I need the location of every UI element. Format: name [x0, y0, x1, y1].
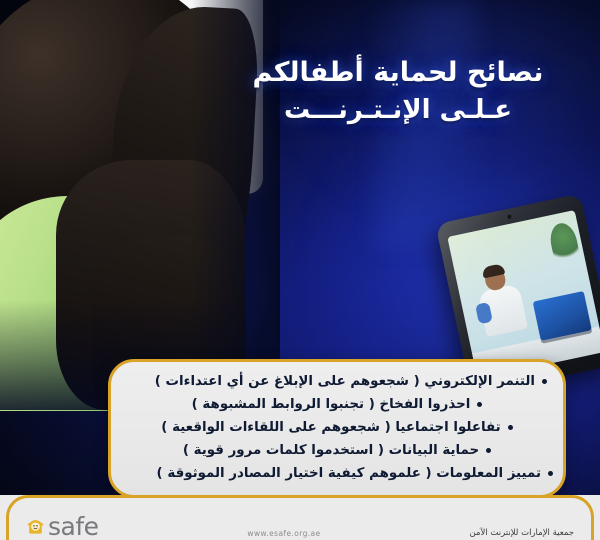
website-url[interactable]: www.esafe.org.ae: [247, 529, 320, 538]
tip-text: تفاعلوا اجتماعيا ( شجعوهم على اللقاءات ا…: [161, 421, 500, 434]
tip-text: حماية البيانات ( استخدموا كلمات مرور قوي…: [183, 444, 479, 457]
tip-text: تمييز المعلومات ( علموهم كيفية اختيار ال…: [157, 467, 541, 480]
list-item: تفاعلوا اجتماعيا ( شجعوهم على اللقاءات ا…: [127, 416, 547, 439]
tips-list: التنمر الإلكتروني ( شجعوهم على الإبلاغ ع…: [111, 362, 563, 485]
organization-name: جمعية الإمارات للإنترنت الآمن: [469, 528, 574, 538]
bullet-dot-icon: [508, 425, 513, 430]
title-line-2: عـلـى الإنـتـرنـــت: [218, 92, 578, 129]
title-line-1: نصائح لحماية أطفالكم: [218, 54, 578, 92]
bullet-dot-icon: [542, 379, 547, 384]
list-item: حماية البيانات ( استخدموا كلمات مرور قوي…: [127, 439, 547, 462]
bullet-dot-icon: [486, 448, 491, 453]
page-title: نصائح لحماية أطفالكم عـلـى الإنـتـرنـــت: [218, 54, 578, 129]
poster: نصائح لحماية أطفالكم عـلـى الإنـتـرنـــت…: [0, 0, 600, 540]
esafe-logo[interactable]: safe: [26, 515, 99, 538]
tip-text: احذروا الفخاخ ( تجنبوا الروابط المشبوهة …: [192, 398, 471, 411]
bullet-dot-icon: [477, 402, 482, 407]
safe-mascot-icon: [26, 517, 45, 536]
bullet-dot-icon: [548, 471, 553, 476]
tip-text: التنمر الإلكتروني ( شجعوهم على الإبلاغ ع…: [155, 375, 535, 388]
tips-card: التنمر الإلكتروني ( شجعوهم على الإبلاغ ع…: [108, 359, 566, 498]
list-item: احذروا الفخاخ ( تجنبوا الروابط المشبوهة …: [127, 393, 547, 416]
list-item: التنمر الإلكتروني ( شجعوهم على الإبلاغ ع…: [127, 370, 547, 393]
footer-bar: جمعية الإمارات للإنترنت الآمن www.esafe.…: [0, 495, 600, 540]
list-item: تمييز المعلومات ( علموهم كيفية اختيار ال…: [127, 462, 553, 485]
footer-content: جمعية الإمارات للإنترنت الآمن www.esafe.…: [0, 495, 600, 540]
logo-wordmark: safe: [48, 515, 99, 538]
